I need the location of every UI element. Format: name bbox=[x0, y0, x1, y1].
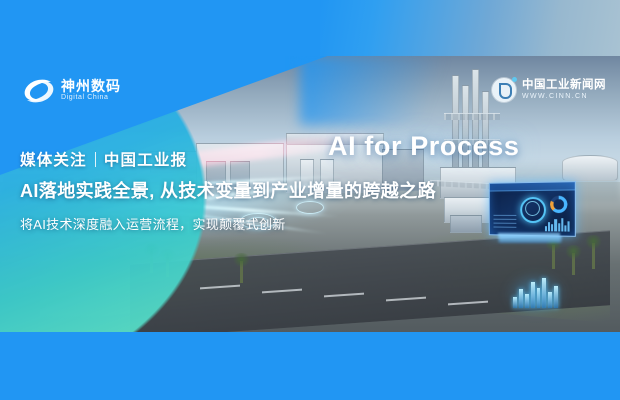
banner-root: 神州数码 Digital China 中国工业新闻网 WWW.CINN.CN 媒… bbox=[0, 0, 620, 400]
blue-wedge-feather bbox=[300, 55, 480, 125]
hero-english-title: AI for Process bbox=[328, 131, 519, 162]
logo-bar-right-fill bbox=[320, 0, 620, 56]
kicker-label: 媒体关注 bbox=[20, 148, 87, 170]
cinn-name-cn: 中国工业新闻网 bbox=[522, 79, 606, 92]
palm-tree bbox=[592, 243, 595, 269]
cinn-logo-text: 中国工业新闻网 WWW.CINN.CN bbox=[522, 79, 606, 101]
dashboard-inner-ring-graphic bbox=[525, 201, 540, 216]
logo-bar-left-fill bbox=[0, 0, 330, 56]
digital-china-logo[interactable]: 神州数码 Digital China bbox=[24, 78, 121, 104]
kicker-source: 中国工业报 bbox=[104, 148, 188, 170]
cinn-logo[interactable]: 中国工业新闻网 WWW.CINN.CN bbox=[492, 78, 606, 102]
dashboard-donut-chart bbox=[550, 196, 567, 213]
dashboard-header-bar bbox=[490, 182, 575, 191]
palm-tree bbox=[572, 253, 575, 275]
palm-tree bbox=[552, 245, 555, 269]
analytics-dashboard-screen-icon bbox=[489, 181, 576, 237]
cinn-circle-icon bbox=[492, 78, 516, 102]
headline-title: AI落地实践全景, 从技术变量到产业增量的跨越之路 bbox=[20, 177, 440, 203]
kicker-separator bbox=[95, 152, 96, 167]
digital-china-swoosh-icon bbox=[24, 78, 54, 104]
plant-building bbox=[450, 215, 482, 233]
logo-bar bbox=[0, 0, 620, 56]
headline-subtitle: 将AI技术深度融入运营流程，实现颠覆式创新 bbox=[20, 214, 440, 233]
digital-china-name-cn: 神州数码 bbox=[61, 79, 121, 94]
bar-chart-hologram-icon bbox=[513, 278, 558, 308]
digital-china-name-en: Digital China bbox=[61, 94, 121, 102]
storage-dome bbox=[562, 155, 618, 181]
digital-china-logo-text: 神州数码 Digital China bbox=[61, 79, 121, 102]
dashboard-base-glow bbox=[498, 233, 560, 243]
dashboard-metric-list bbox=[494, 215, 517, 231]
cinn-dot-accent bbox=[512, 77, 517, 82]
dashboard-bar-chart bbox=[545, 218, 570, 232]
cinn-url: WWW.CINN.CN bbox=[522, 92, 606, 101]
